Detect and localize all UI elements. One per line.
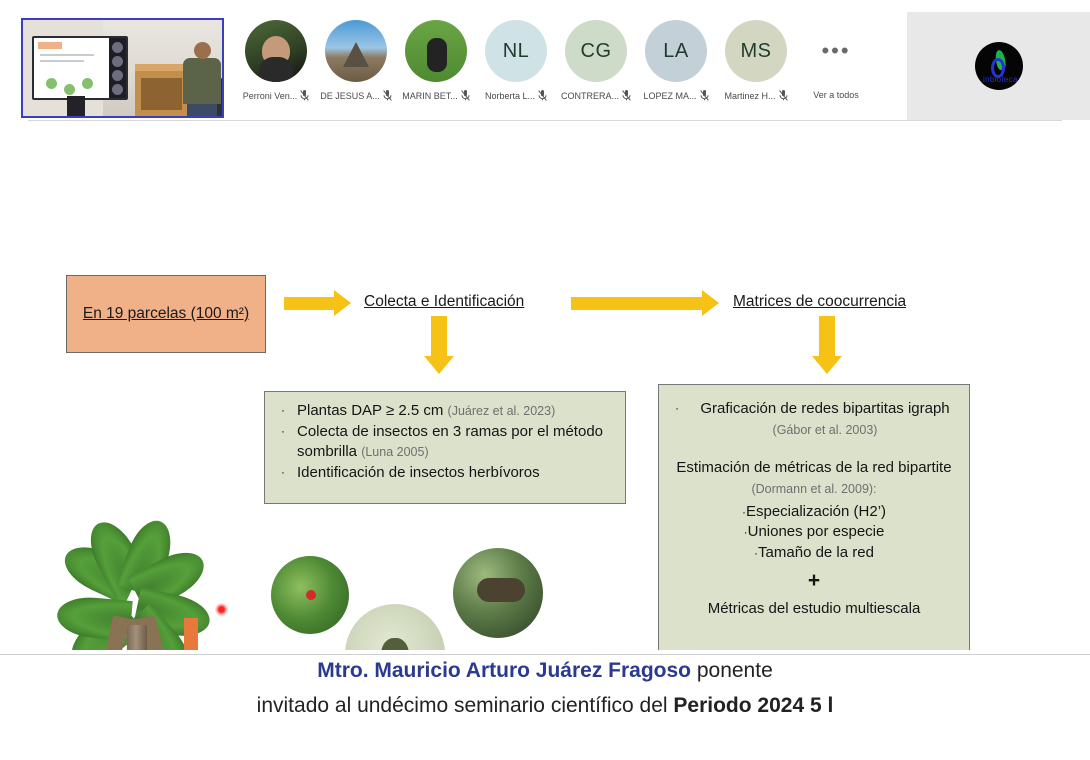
presenter-room-photo <box>23 20 222 116</box>
metric-item: ·Tamaño de la red <box>669 543 959 564</box>
photo-insect-on-leaf-red-fruit <box>271 556 349 634</box>
plus-symbol: + <box>669 570 959 591</box>
avatar-initials: LA <box>645 20 707 82</box>
flow-step-parcelas-label: En 19 parcelas (100 m²) <box>83 305 249 323</box>
arrow-right-1-icon <box>284 290 351 316</box>
photo-grasshopper-on-leaf <box>453 548 543 638</box>
caption-divider <box>0 654 1090 655</box>
mic-muted-icon <box>300 90 309 101</box>
participant-name: MARIN BET... <box>402 91 458 101</box>
presenter-name: Mtro. Mauricio Arturo Juárez Fragoso <box>317 659 691 682</box>
mic-muted-icon <box>461 90 470 101</box>
flow-step-colecta-label: Colecta e Identificación <box>364 293 524 311</box>
bullet-icon: · <box>669 399 685 418</box>
mic-muted-icon <box>779 90 788 101</box>
methods-box: · Plantas DAP ≥ 2.5 cm (Juárez et al. 20… <box>264 391 626 504</box>
metric-item: ·Uniones por especie <box>669 522 959 543</box>
shared-slide: En 19 parcelas (100 m²) Colecta e Identi… <box>0 120 1090 650</box>
screen-root: Perroni Ven... DE JESUS A... <box>0 0 1090 760</box>
mic-muted-icon <box>700 90 709 101</box>
metric-item: ·Especialización (H2’) <box>669 502 959 523</box>
methods-item: · Plantas DAP ≥ 2.5 cm (Juárez et al. 20… <box>275 401 613 422</box>
participant-tiles: Perroni Ven... DE JESUS A... <box>240 20 872 101</box>
participant-tile[interactable]: NL Norberta L... <box>480 20 552 101</box>
participant-tile[interactable]: CG CONTRERA... <box>560 20 632 101</box>
methods-item-text: Plantas DAP ≥ 2.5 cm (Juárez et al. 2023… <box>297 401 555 422</box>
networks-bullet-1: · Graficación de redes bipartitas igraph… <box>669 399 959 440</box>
avatar <box>405 20 467 82</box>
participant-tile[interactable]: MARIN BET... <box>400 20 472 101</box>
ellipsis-icon: ••• <box>805 20 867 82</box>
caption-line-2: invitado al undécimo seminario científic… <box>0 694 1090 718</box>
caption-band: Mtro. Mauricio Arturo Juárez Fragoso pon… <box>0 650 1090 760</box>
networks-footer: Métricas del estudio multiescala <box>669 599 959 620</box>
flow-step-matrices-label: Matrices de coocurrencia <box>733 293 906 311</box>
laser-pointer-dot <box>215 603 228 616</box>
participant-tile[interactable]: LA LOPEZ MA... <box>640 20 712 101</box>
networks-bullet-1-text: Graficación de redes bipartitas igraph (… <box>691 399 959 440</box>
flow-step-parcelas: En 19 parcelas (100 m²) <box>66 275 266 353</box>
participant-tile[interactable]: DE JESUS A... <box>320 20 392 101</box>
bullet-icon: · <box>275 463 291 482</box>
caption-period: Periodo 2024 5 l <box>673 694 833 717</box>
active-speaker-video-tile[interactable] <box>21 18 224 118</box>
inbioteca-logo-icon: inbioteca <box>975 42 1023 90</box>
arrow-right-2-icon <box>571 290 719 316</box>
caption-line-1: Mtro. Mauricio Arturo Juárez Fragoso pon… <box>0 659 1090 683</box>
participant-tile[interactable]: MS Martinez H... <box>720 20 792 101</box>
slide-divider <box>28 120 1062 121</box>
participant-name: Martinez H... <box>724 91 775 101</box>
arrow-down-2-icon <box>812 316 842 374</box>
participant-name: CONTRERA... <box>561 91 619 101</box>
meeting-filmstrip: Perroni Ven... DE JESUS A... <box>0 0 1090 120</box>
methods-item: · Colecta de insectos en 3 ramas por el … <box>275 422 613 463</box>
arrow-down-1-icon <box>424 316 454 374</box>
networks-heading: Estimación de métricas de la red biparti… <box>669 458 959 499</box>
bullet-icon: · <box>275 401 291 420</box>
avatar-initials: NL <box>485 20 547 82</box>
methods-item-text: Identificación de insectos herbívoros <box>297 463 540 484</box>
mic-muted-icon <box>538 90 547 101</box>
participant-name: Perroni Ven... <box>243 91 298 101</box>
see-all-label: Ver a todos <box>813 90 859 100</box>
projection-screen-in-video <box>32 36 128 100</box>
mic-muted-icon <box>383 90 392 101</box>
avatar <box>245 20 307 82</box>
presenter-role: ponente <box>691 659 773 682</box>
participant-tile[interactable]: Perroni Ven... <box>240 20 312 101</box>
methods-item-text: Colecta de insectos en 3 ramas por el mé… <box>297 422 613 463</box>
inbioteca-logo-text: inbioteca <box>983 75 1018 84</box>
participant-name: LOPEZ MA... <box>643 91 696 101</box>
methods-item: · Identificación de insectos herbívoros <box>275 463 613 484</box>
avatar-initials: CG <box>565 20 627 82</box>
caption-invite-text: invitado al undécimo seminario científic… <box>257 694 674 717</box>
networks-box: · Graficación de redes bipartitas igraph… <box>658 384 970 652</box>
see-all-participants-button[interactable]: ••• Ver a todos <box>800 20 872 100</box>
participant-name: Norberta L... <box>485 91 535 101</box>
bullet-icon: · <box>275 422 291 441</box>
avatar <box>325 20 387 82</box>
mic-muted-icon <box>622 90 631 101</box>
participant-name: DE JESUS A... <box>320 91 380 101</box>
avatar-initials: MS <box>725 20 787 82</box>
